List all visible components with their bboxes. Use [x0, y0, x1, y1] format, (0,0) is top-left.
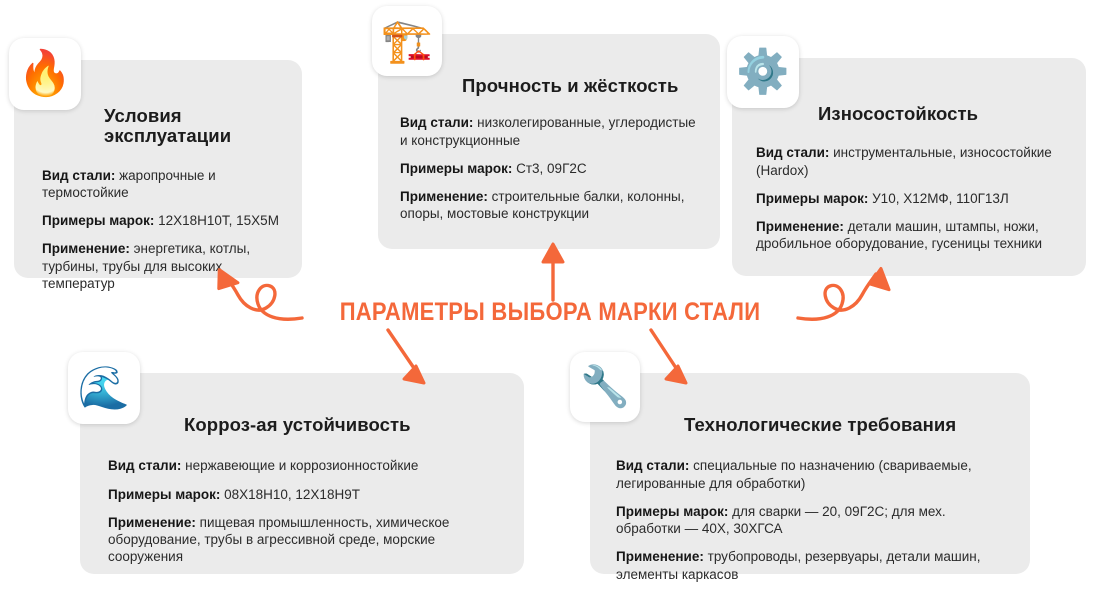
label-steel-type: Вид стали: [616, 458, 689, 473]
row-usage: Применение: трубопроводы, резервуары, де… [616, 548, 1010, 583]
row-examples: Примеры марок: 12Х18Н10Т, 15Х5М [42, 212, 282, 229]
badge-wrench: 🔧 [570, 352, 640, 422]
row-examples: Примеры марок: 08Х18Н10, 12Х18Н9Т [108, 486, 502, 503]
label-examples: Примеры марок: [400, 161, 512, 176]
page-title: ПАРАМЕТРЫ ВЫБОРА МАРКИ СТАЛИ [330, 298, 770, 327]
arrow-to-corrosion-resistance [388, 330, 418, 374]
row-steel-type: Вид стали: низколегированные, углеродист… [400, 114, 702, 149]
label-examples: Примеры марок: [756, 191, 868, 206]
label-examples: Примеры марок: [108, 487, 220, 502]
row-usage: Применение: энергетика, котлы, турбины, … [42, 240, 282, 292]
label-steel-type: Вид стали: [42, 168, 115, 183]
card-body-corrosion-resistance: Вид стали: нержавеющие и коррозионностой… [108, 457, 502, 565]
label-usage: Применение: [42, 241, 130, 256]
card-title-operating-conditions: Условия эксплуатации [104, 106, 282, 147]
card-technological-requirements[interactable]: Технологические требования Вид стали: сп… [590, 373, 1030, 574]
value-examples: У10, Х12МФ, 110Г13Л [872, 191, 1009, 206]
row-usage: Применение: пищевая промышленность, хими… [108, 514, 502, 566]
value-examples: Ст3, 09Г2С [516, 161, 587, 176]
value-examples: 12Х18Н10Т, 15Х5М [158, 213, 279, 228]
wave-icon: 🌊 [78, 367, 130, 409]
crane-icon: 🏗️ [381, 20, 433, 62]
label-usage: Применение: [400, 189, 488, 204]
card-body-strength-stiffness: Вид стали: низколегированные, углеродист… [400, 114, 702, 222]
card-title-technological-requirements: Технологические требования [684, 415, 1010, 435]
label-steel-type: Вид стали: [108, 458, 181, 473]
row-steel-type: Вид стали: специальные по назначению (св… [616, 457, 1010, 492]
row-examples: Примеры марок: У10, Х12МФ, 110Г13Л [756, 190, 1068, 207]
badge-fire: 🔥 [9, 38, 81, 110]
wrench-icon: 🔧 [580, 367, 630, 407]
card-title-strength-stiffness: Прочность и жёсткость [462, 76, 702, 96]
label-steel-type: Вид стали: [756, 145, 829, 160]
row-examples: Примеры марок: Ст3, 09Г2С [400, 160, 702, 177]
value-examples: 08Х18Н10, 12Х18Н9Т [224, 487, 360, 502]
infographic-canvas: Условия эксплуатации Вид стали: жаропроч… [0, 0, 1100, 597]
label-examples: Примеры марок: [42, 213, 154, 228]
label-usage: Применение: [616, 549, 704, 564]
label-usage: Применение: [108, 515, 196, 530]
arrow-to-technological-requirements [651, 330, 680, 374]
card-body-operating-conditions: Вид стали: жаропрочные и термостойкие Пр… [42, 167, 282, 293]
row-usage: Применение: детали машин, штампы, ножи, … [756, 218, 1068, 253]
row-usage: Применение: строительные балки, колонны,… [400, 188, 702, 223]
fire-icon: 🔥 [18, 52, 73, 96]
value-steel-type: нержавеющие и коррозионностойкие [185, 458, 418, 473]
badge-crane: 🏗️ [372, 6, 442, 76]
row-steel-type: Вид стали: нержавеющие и коррозионностой… [108, 457, 502, 474]
card-corrosion-resistance[interactable]: Корроз-ая устойчивость Вид стали: нержав… [80, 373, 524, 574]
gear-icon: ⚙️ [736, 51, 790, 94]
badge-gear: ⚙️ [727, 36, 799, 108]
badge-wave: 🌊 [68, 352, 140, 424]
card-title-corrosion-resistance: Корроз-ая устойчивость [184, 415, 502, 435]
arrow-to-wear-resistance [798, 274, 876, 319]
label-usage: Применение: [756, 219, 844, 234]
row-steel-type: Вид стали: инструментальные, износостойк… [756, 144, 1068, 179]
card-body-wear-resistance: Вид стали: инструментальные, износостойк… [756, 144, 1068, 252]
label-steel-type: Вид стали: [400, 115, 473, 130]
label-examples: Примеры марок: [616, 504, 728, 519]
card-title-wear-resistance: Износостойкость [818, 104, 1068, 124]
row-examples: Примеры марок: для сварки — 20, 09Г2С; д… [616, 503, 1010, 538]
card-body-technological-requirements: Вид стали: специальные по назначению (св… [616, 457, 1010, 583]
row-steel-type: Вид стали: жаропрочные и термостойкие [42, 167, 282, 202]
